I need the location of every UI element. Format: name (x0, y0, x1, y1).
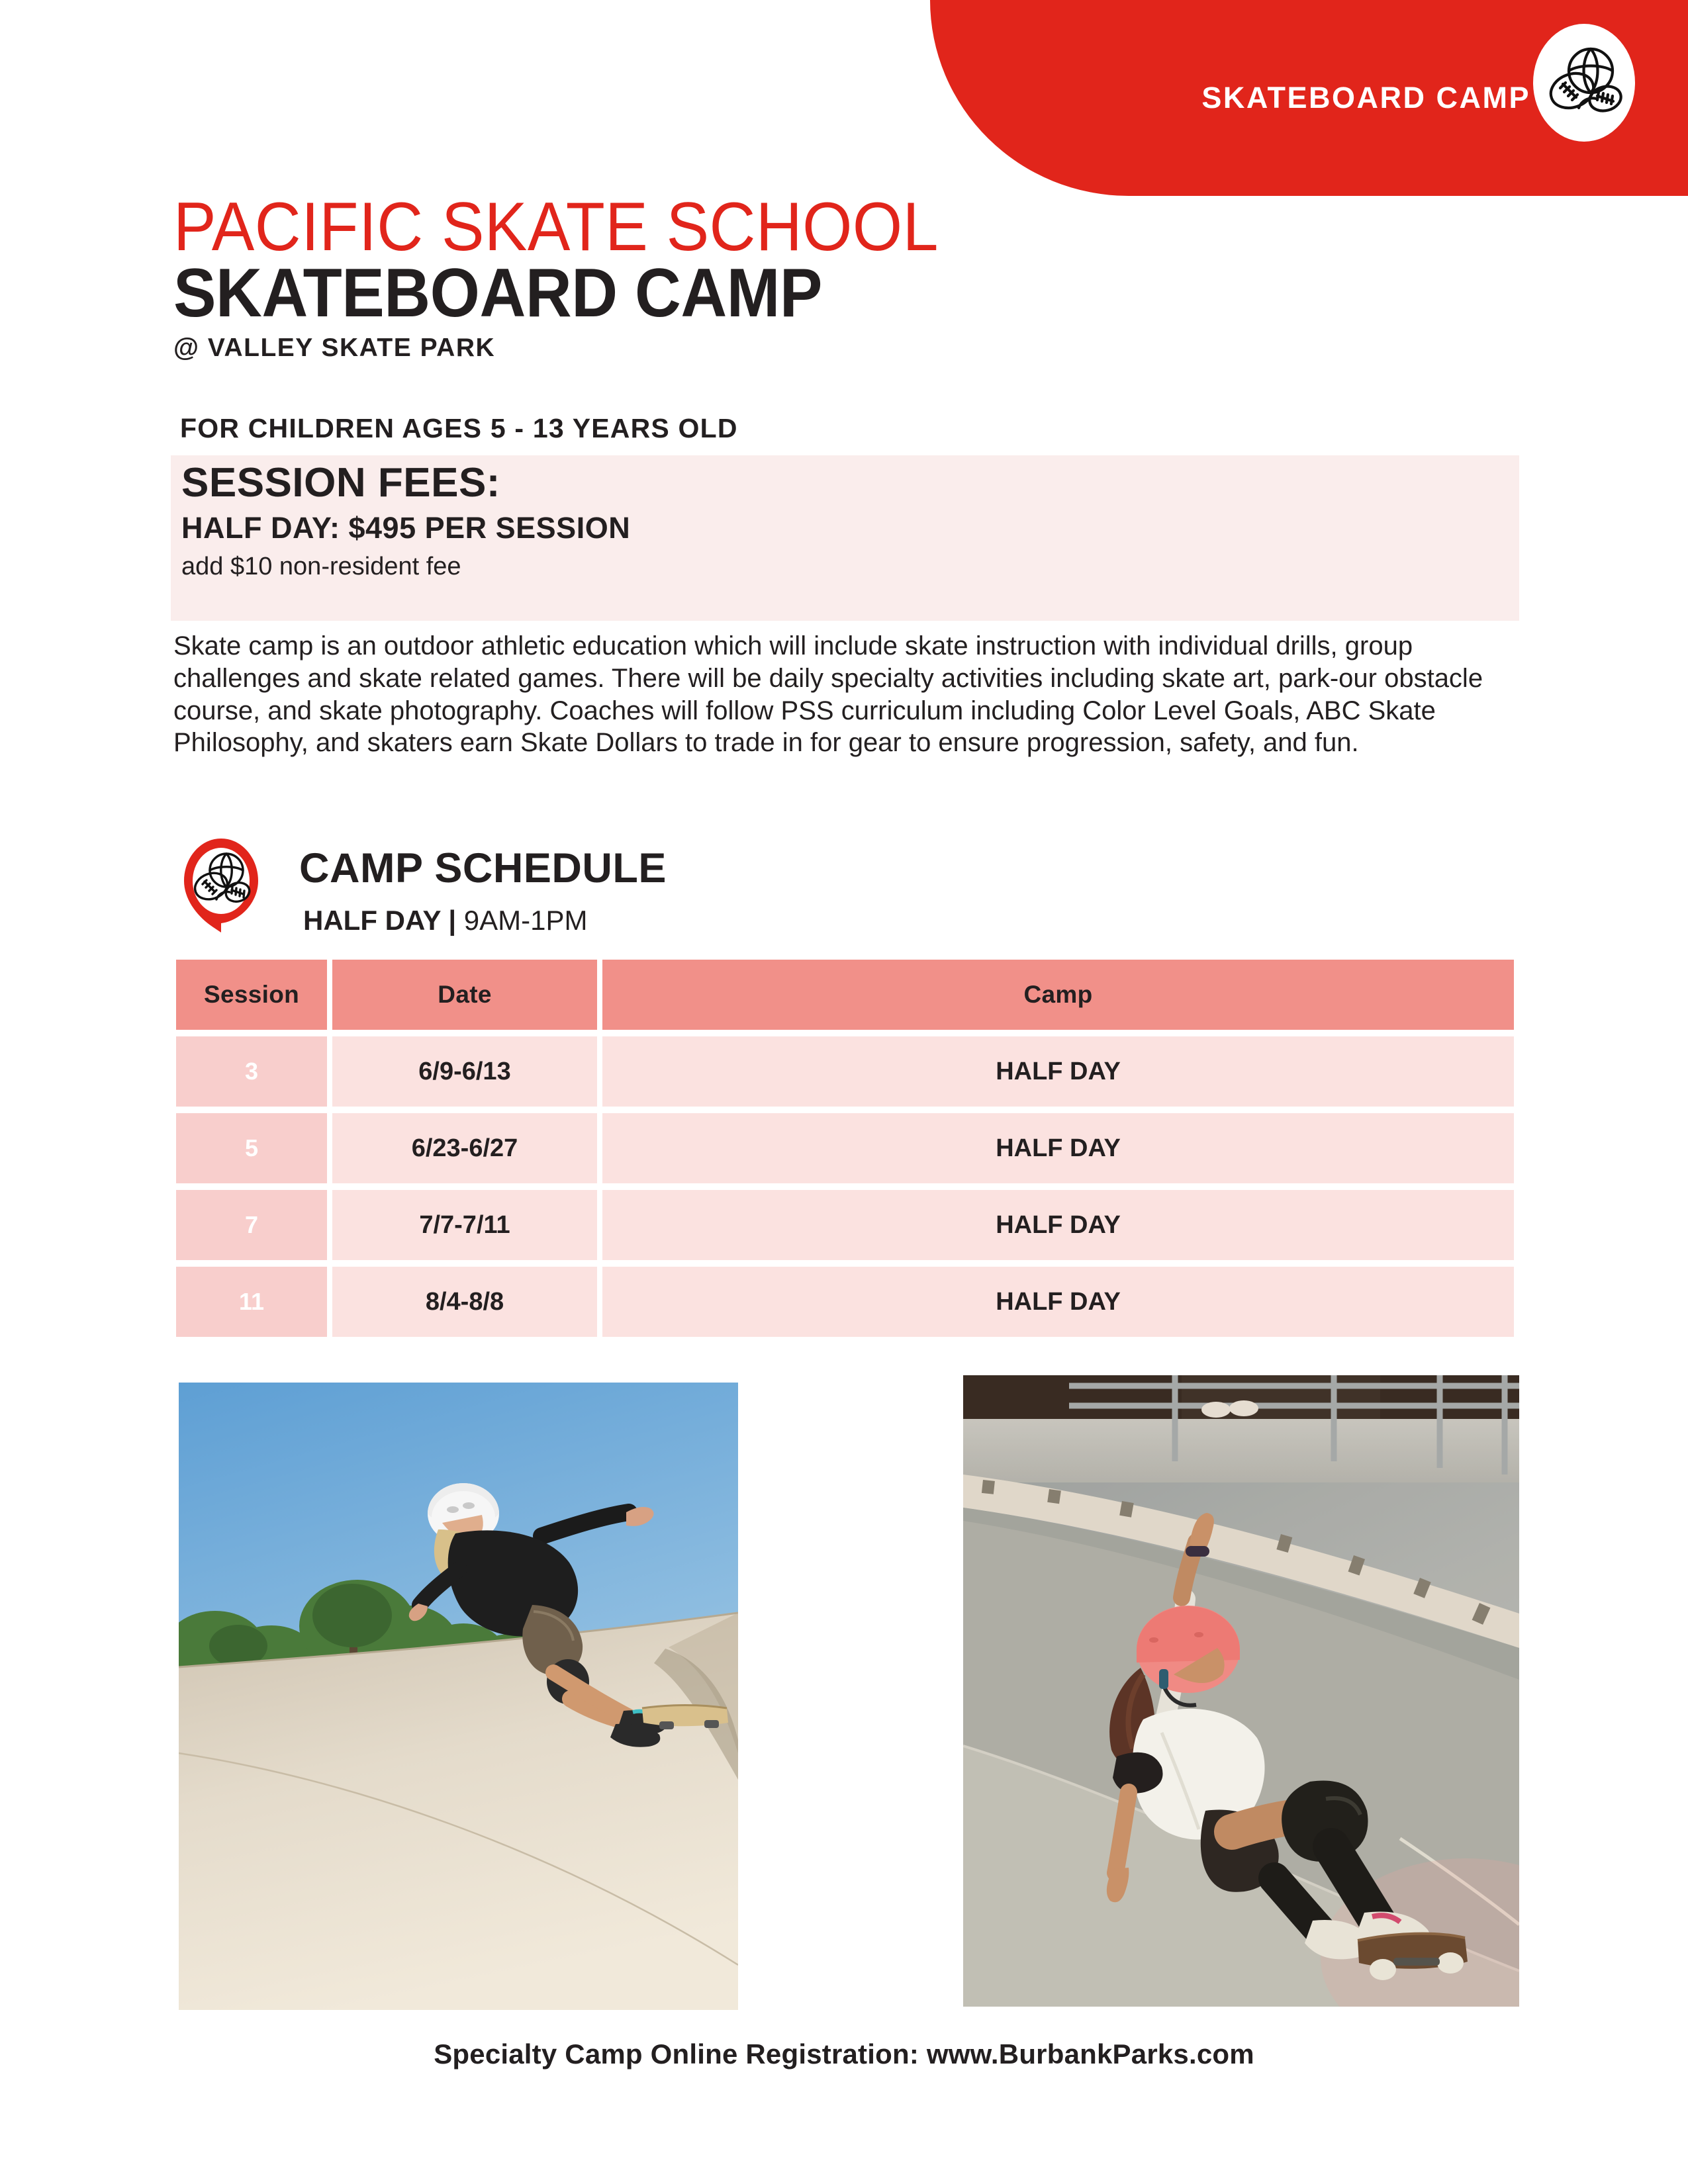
sports-balls-pin-icon (180, 836, 262, 933)
column-header-date: Date (332, 960, 597, 1030)
banner-title: SKATEBOARD CAMP (1201, 81, 1530, 115)
photo-skater-pink-helmet (963, 1375, 1519, 2007)
cell-session: 3 (176, 1036, 327, 1107)
table-row: 3 6/9-6/13 HALF DAY (176, 1036, 1514, 1107)
cell-session: 5 (176, 1113, 327, 1183)
column-header-camp: Camp (602, 960, 1514, 1030)
title-block: PACIFIC SKATE SCHOOL SKATEBOARD CAMP @ V… (173, 192, 1530, 363)
fees-note: add $10 non-resident fee (181, 553, 461, 581)
table-row: 7 7/7-7/11 HALF DAY (176, 1190, 1514, 1260)
cell-camp: HALF DAY (602, 1267, 1514, 1337)
session-fees-box: SESSION FEES: HALF DAY: $495 PER SESSION… (171, 455, 1519, 621)
schedule-subtitle: HALF DAY | 9AM-1PM (303, 905, 588, 936)
school-name: PACIFIC SKATE SCHOOL (173, 192, 1436, 262)
table-header-row: Session Date Camp (176, 960, 1514, 1030)
cell-camp: HALF DAY (602, 1113, 1514, 1183)
cell-date: 6/9-6/13 (332, 1036, 597, 1107)
ages-line: FOR CHILDREN AGES 5 - 13 YEARS OLD (180, 413, 738, 444)
column-header-session: Session (176, 960, 327, 1030)
registration-footer: Specialty Camp Online Registration: www.… (0, 2038, 1688, 2070)
schedule-subtitle-time: 9AM-1PM (456, 905, 587, 936)
camp-description: Skate camp is an outdoor athletic educat… (173, 630, 1491, 759)
table-row: 11 8/4-8/8 HALF DAY (176, 1267, 1514, 1337)
schedule-subtitle-bold: HALF DAY | (303, 905, 456, 936)
cell-camp: HALF DAY (602, 1190, 1514, 1260)
table-row: 5 6/23-6/27 HALF DAY (176, 1113, 1514, 1183)
fees-heading: SESSION FEES: (181, 459, 500, 506)
venue-name: @ VALLEY SKATE PARK (173, 334, 1530, 363)
sports-balls-circle-icon (1533, 24, 1635, 142)
cell-session: 7 (176, 1190, 327, 1260)
cell-session: 11 (176, 1267, 327, 1337)
photo-skater-white-helmet (179, 1383, 738, 2010)
camp-schedule-table: Session Date Camp 3 6/9-6/13 HALF DAY 5 … (171, 953, 1519, 1343)
cell-date: 6/23-6/27 (332, 1113, 597, 1183)
cell-date: 7/7-7/11 (332, 1190, 597, 1260)
program-name: SKATEBOARD CAMP (173, 258, 1436, 328)
top-red-banner: SKATEBOARD CAMP (930, 0, 1688, 196)
cell-camp: HALF DAY (602, 1036, 1514, 1107)
schedule-title: CAMP SCHEDULE (299, 844, 667, 892)
cell-date: 8/4-8/8 (332, 1267, 597, 1337)
fees-half-day: HALF DAY: $495 PER SESSION (181, 511, 630, 545)
